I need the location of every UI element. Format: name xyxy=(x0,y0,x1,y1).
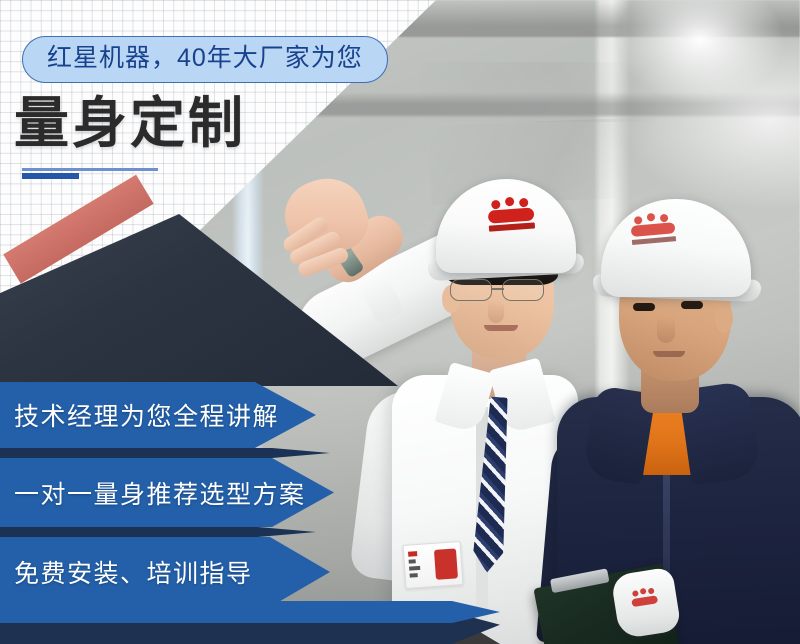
logo-body xyxy=(631,595,658,607)
hard-hat-logo-icon xyxy=(628,211,681,247)
feature-separator-2 xyxy=(0,527,316,537)
hard-hat-logo-icon xyxy=(485,195,539,233)
glove-logo-icon xyxy=(629,587,660,613)
glasses-bridge xyxy=(492,288,504,290)
logo-dot xyxy=(505,197,515,207)
logo-dot xyxy=(648,588,655,595)
badge-mark xyxy=(408,551,417,557)
badge-letter xyxy=(434,548,458,579)
logo-dot xyxy=(519,198,529,208)
logo-dot xyxy=(640,588,647,595)
chest-badge xyxy=(403,541,464,589)
page-title: 量身定制 xyxy=(14,96,246,151)
promo-banner: 红星机器，40年大厂家为您 量身定制 技术经理为您全程讲解 一对一量身推荐选型方… xyxy=(0,0,800,644)
footer-blue-strip xyxy=(0,601,500,623)
badge-line xyxy=(410,573,418,578)
feature-bar-label: 技术经理为您全程讲解 xyxy=(0,397,279,433)
logo-dot xyxy=(647,213,656,222)
logo-wordmark xyxy=(632,236,676,245)
feature-bar-label: 一对一量身推荐选型方案 xyxy=(0,475,306,511)
technician-ear xyxy=(715,303,733,333)
lens-left xyxy=(450,279,492,301)
work-glove-right xyxy=(610,567,681,640)
logo-dot xyxy=(491,200,501,210)
ceiling-beam-shadow-icon xyxy=(420,62,720,122)
feature-bar-label: 免费安装、培训指导 xyxy=(0,554,253,590)
lens-right xyxy=(502,279,544,301)
logo-dot xyxy=(660,214,669,223)
tagline-pill: 红星机器，40年大厂家为您 xyxy=(22,36,388,83)
feature-bar-2: 一对一量身推荐选型方案 xyxy=(0,458,334,527)
technician-mouth xyxy=(653,351,685,357)
engineer-nose xyxy=(488,301,504,323)
logo-body xyxy=(631,222,676,237)
title-underline-thick xyxy=(22,173,79,179)
eyeglasses-icon xyxy=(446,279,558,303)
logo-dot xyxy=(634,216,643,225)
logo-dot xyxy=(632,590,639,597)
feature-bar-3: 免费安装、培训指导 xyxy=(0,537,330,607)
badge-line xyxy=(409,559,416,563)
eye xyxy=(681,301,703,309)
technician-nose xyxy=(657,317,675,343)
feature-separator-1 xyxy=(0,448,330,458)
title-underline-thin xyxy=(22,168,158,171)
feature-bar-1: 技术经理为您全程讲解 xyxy=(0,382,316,448)
engineer-mouth xyxy=(484,325,518,331)
badge-line xyxy=(409,566,420,571)
technician-figure xyxy=(545,185,800,644)
logo-body xyxy=(488,207,535,223)
eye xyxy=(633,303,655,311)
